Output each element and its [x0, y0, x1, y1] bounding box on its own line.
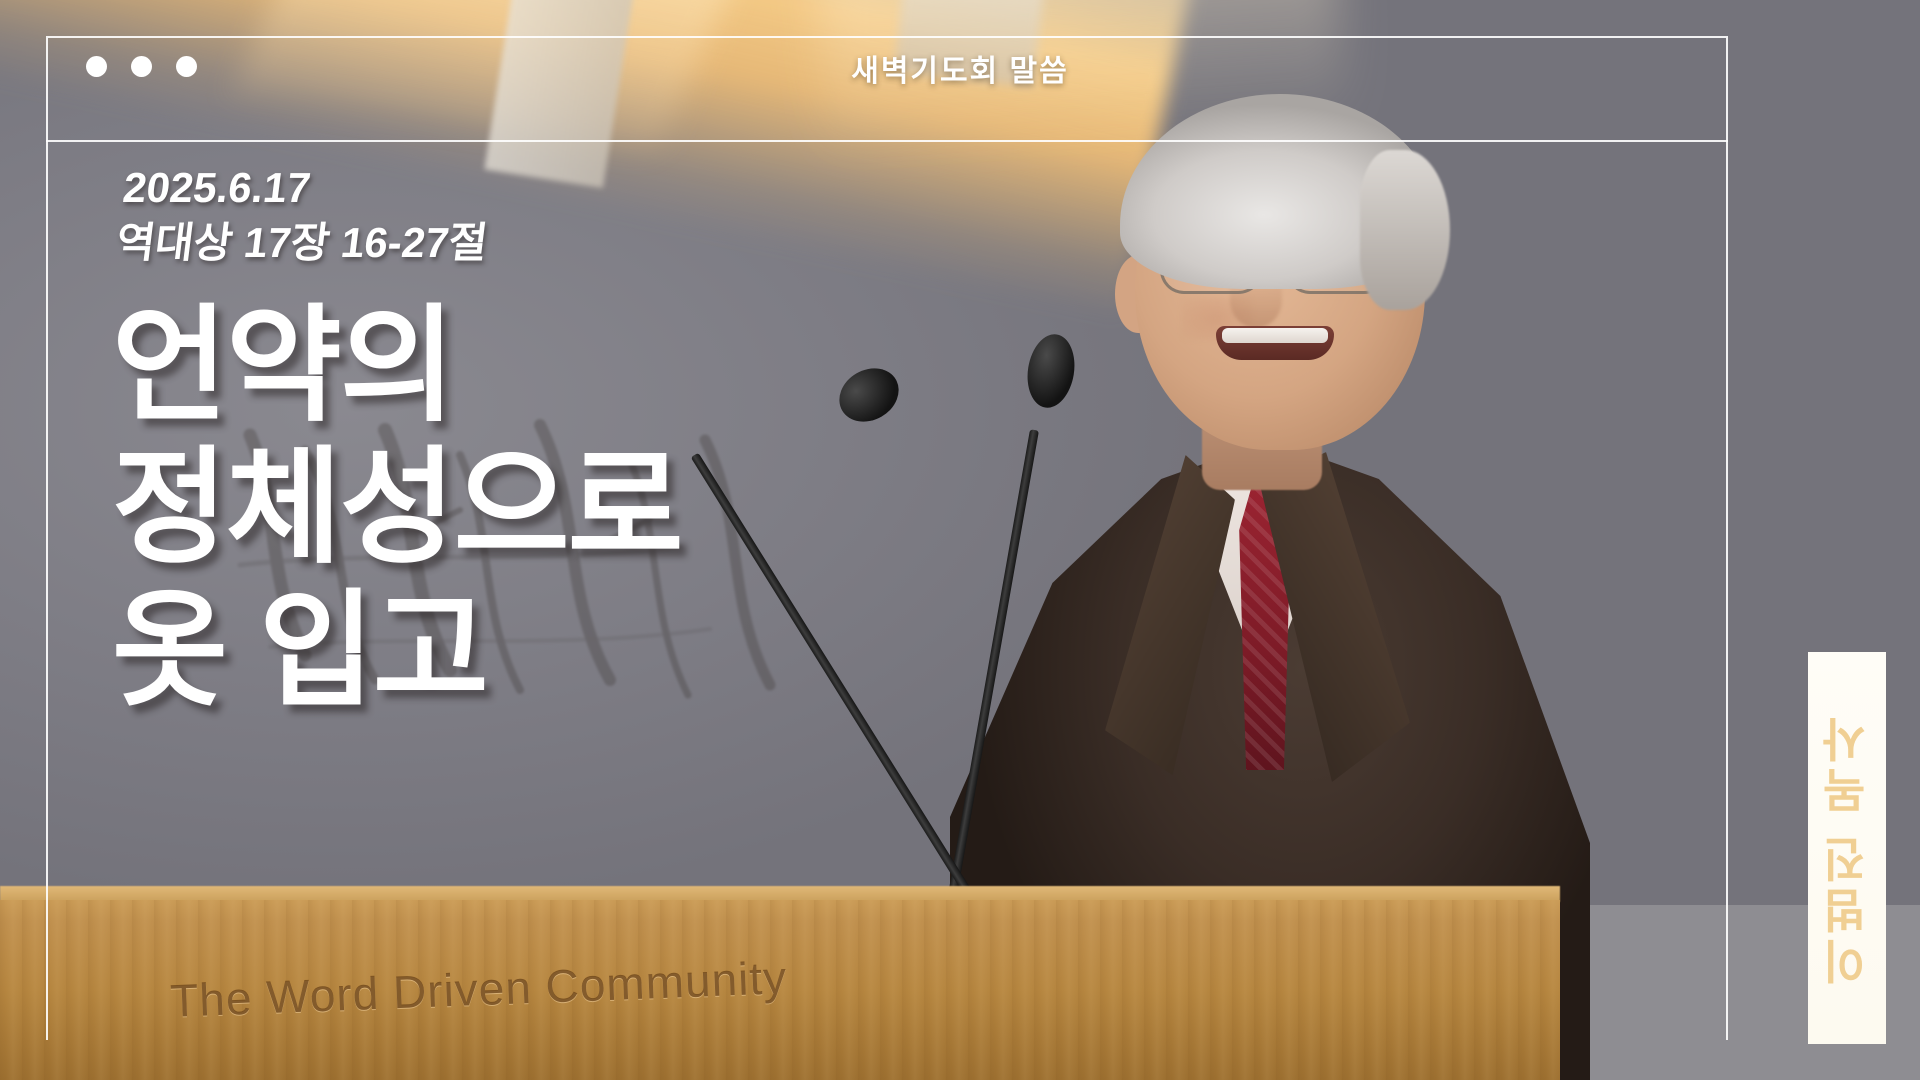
sermon-title: 언약의 정체성으로 옷 입고 [112, 295, 682, 722]
wooden-podium: The Word Driven Community [0, 900, 1560, 1080]
speaker-name-vertical: 이범진 목사 [1814, 712, 1880, 985]
sermon-date: 2025.6.17 [120, 160, 497, 215]
podium-engraved-text: The Word Driven Community [169, 950, 788, 1028]
sermon-title-line-1: 언약의 [112, 295, 682, 437]
speaker-teeth [1222, 328, 1328, 343]
sermon-scripture: 역대상 17장 16-27절 [113, 215, 490, 270]
sermon-title-line-2: 정체성으로 [112, 437, 682, 579]
window-titlebar-divider [46, 140, 1728, 142]
speaker-hair-side [1360, 150, 1450, 310]
sermon-thumbnail: The Word Driven Community 새벽기도회 말씀 2025.… [0, 0, 1920, 1080]
speaker-name-panel: 이범진 목사 [1808, 652, 1886, 1044]
sermon-meta: 2025.6.17 역대상 17장 16-27절 [113, 160, 497, 271]
speaker-mouth [1216, 326, 1334, 360]
sermon-title-line-3: 옷 입고 [112, 580, 682, 722]
window-title: 새벽기도회 말씀 [0, 46, 1920, 90]
